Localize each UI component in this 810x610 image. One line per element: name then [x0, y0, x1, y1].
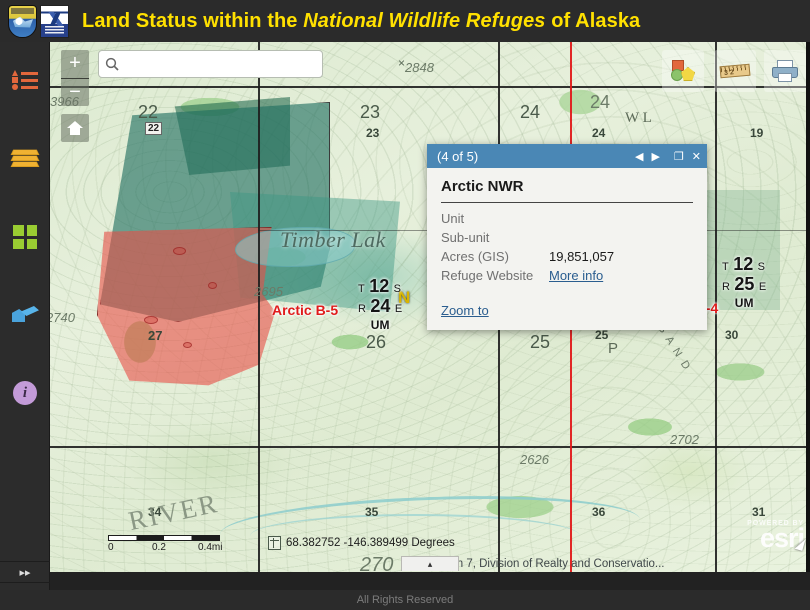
sidebar-item-legend[interactable] — [0, 42, 50, 120]
search-container[interactable] — [98, 50, 323, 78]
t-number-2: 12 — [733, 254, 753, 274]
zoom-in-button[interactable]: + — [61, 50, 89, 79]
r-prefix-2: R — [722, 281, 730, 293]
t-dir-2: S — [758, 261, 765, 273]
coordinate-value: 68.382752 -146.389499 Degrees — [286, 537, 455, 549]
r-dir: E — [395, 303, 402, 315]
section-label-24b: 24 — [592, 126, 605, 140]
r-dir-2: E — [759, 281, 766, 293]
left-sidebar: i ▸▸ — [0, 42, 50, 610]
map-status-strip: 0 0.2 0.4mi 68.382752 -146.389499 Degree… — [100, 534, 810, 552]
section-label-30: 30 — [725, 328, 738, 342]
print-button[interactable] — [764, 50, 806, 92]
meridian-2: UM — [735, 296, 754, 310]
section-label-35: 35 — [365, 505, 378, 519]
t-number: 12 — [369, 276, 389, 296]
popup-record-count: (4 of 5) — [437, 149, 635, 164]
search-input[interactable] — [125, 57, 322, 71]
section-label-boxed-22: 22 — [145, 122, 162, 135]
river-label: RIVER — [126, 488, 221, 537]
draw-tool-button[interactable] — [662, 50, 704, 92]
app-footer: All Rights Reserved — [0, 590, 810, 610]
info-icon: i — [13, 381, 37, 405]
t-prefix-2: T — [722, 261, 729, 273]
table-row: Unit — [441, 209, 693, 228]
legend-icon — [12, 71, 38, 91]
t-prefix: T — [358, 283, 365, 295]
section-label-25: 25 — [530, 332, 550, 353]
popup-title: Arctic NWR — [441, 178, 693, 203]
elevation-label-5: 2702 — [670, 432, 699, 447]
section-label-27: 27 — [148, 328, 162, 343]
grid-icon — [13, 225, 37, 249]
agency-logos — [0, 5, 69, 38]
coordinate-icon — [268, 536, 281, 550]
scale-label-zero: 0 — [108, 542, 114, 553]
table-row: Refuge Website More info — [441, 266, 693, 285]
section-label-top-23: 23 — [360, 102, 380, 123]
attr-value-acres: 19,851,057 — [549, 249, 614, 264]
zoom-controls: + − — [61, 50, 89, 106]
quad-label: Arctic B-5 — [272, 302, 338, 318]
scale-label-mid: 0.2 — [152, 542, 166, 553]
section-label-31: 31 — [752, 505, 765, 519]
page-title-italic: National Wildlife Refuges — [303, 10, 545, 32]
attr-label-subunit: Sub-unit — [441, 230, 549, 245]
national-wildlife-refuge-seal-icon — [40, 5, 69, 38]
sidebar-item-measure[interactable] — [0, 276, 50, 354]
feature-popup: (4 of 5) ◀ ▶ ❐ ✕ Arctic NWR Unit Sub-uni… — [427, 144, 707, 330]
popup-next-icon[interactable]: ▶ — [651, 150, 659, 163]
elevation-marker: × — [398, 56, 405, 70]
r-prefix: R — [358, 303, 366, 315]
elevation-label-6: 2626 — [520, 452, 549, 467]
t-dir: S — [394, 283, 401, 295]
table-row: Acres (GIS) 19,851,057 — [441, 247, 693, 266]
lake-label: Timber Lak — [280, 227, 386, 253]
attribution-text: egion 7, Division of Realty and Conserva… — [435, 555, 664, 572]
home-icon — [67, 121, 83, 135]
table-row: Sub-unit — [441, 228, 693, 247]
zoom-to-link[interactable]: Zoom to — [441, 303, 489, 318]
sidebar-expand-button[interactable]: ▸▸ — [0, 561, 50, 583]
refuge-website-link[interactable]: More info — [549, 268, 603, 283]
elevation-label: 2848 — [405, 60, 434, 75]
coordinate-readout[interactable]: 68.382752 -146.389499 Degrees — [268, 536, 455, 550]
measure-icon — [12, 305, 38, 325]
ruler-icon — [720, 64, 751, 79]
popup-prev-icon[interactable]: ◀ — [635, 150, 643, 163]
scale-bar-graphic — [108, 535, 220, 541]
sidebar-item-about[interactable]: i — [0, 354, 50, 432]
popup-close-icon[interactable]: ✕ — [692, 150, 701, 163]
measurement-tool-button[interactable] — [714, 50, 756, 92]
usfws-seal-icon — [8, 5, 37, 38]
home-button[interactable] — [61, 114, 89, 142]
elevation-label-3: 2695 — [254, 284, 283, 299]
township-range-label-right: T 12 S R 25 E UM — [722, 255, 766, 311]
attr-label-website: Refuge Website — [441, 268, 549, 283]
section-label-26: 26 — [366, 332, 386, 353]
sand-label: S A N D — [655, 323, 693, 374]
shapes-icon — [671, 60, 695, 82]
rights-text: All Rights Reserved — [357, 594, 454, 606]
printer-icon — [772, 60, 798, 82]
section-label-19: 19 — [750, 126, 763, 140]
app-window: Land Status within the National Wildlife… — [0, 0, 810, 610]
zoom-out-button[interactable]: − — [61, 79, 89, 107]
attr-label-acres: Acres (GIS) — [441, 249, 549, 264]
section-label-top-22: 22 — [138, 102, 158, 123]
section-label-24-dup: 24 — [590, 92, 610, 113]
layers-icon — [12, 148, 38, 170]
search-icon — [99, 57, 125, 71]
elevation-label-7: 270 — [360, 554, 393, 572]
page-title-part2: of Alaska — [546, 10, 641, 32]
attribution-collapse-button[interactable]: ▴ — [401, 556, 459, 571]
popup-body: Arctic NWR Unit Sub-unit Acres (GIS) 19,… — [427, 168, 707, 330]
page-title-part1: Land Status within the — [82, 10, 303, 32]
sidebar-item-basemap-gallery[interactable] — [0, 198, 50, 276]
section-label-36: 36 — [592, 505, 605, 519]
township-grid-line-v1 — [258, 42, 260, 572]
esri-powered-label: POWERED BY — [747, 520, 804, 527]
section-label-23b: 23 — [366, 126, 379, 140]
r-number-2: 25 — [734, 274, 754, 294]
section-label-25b: 25 — [595, 328, 608, 342]
map-right-edge — [806, 42, 810, 572]
p-label: P — [608, 340, 618, 357]
attr-label-unit: Unit — [441, 211, 549, 226]
wl-label: W L — [625, 110, 652, 127]
scale-label-max: 0.4mi — [198, 542, 222, 553]
elevation-label-4: 2740 — [50, 310, 75, 325]
r-number: 24 — [370, 296, 390, 316]
popup-maximize-icon[interactable]: ❐ — [674, 150, 684, 163]
meridian: UM — [371, 318, 390, 332]
popup-header: (4 of 5) ◀ ▶ ❐ ✕ — [427, 144, 707, 168]
scale-bar: 0 0.2 0.4mi — [108, 535, 226, 551]
sidebar-item-layers[interactable] — [0, 120, 50, 198]
page-title: Land Status within the National Wildlife… — [69, 10, 640, 33]
township-range-label-left: T 12 S R 24 E UM — [358, 277, 402, 333]
app-header: Land Status within the National Wildlife… — [0, 0, 810, 42]
section-label-top-24: 24 — [520, 102, 540, 123]
